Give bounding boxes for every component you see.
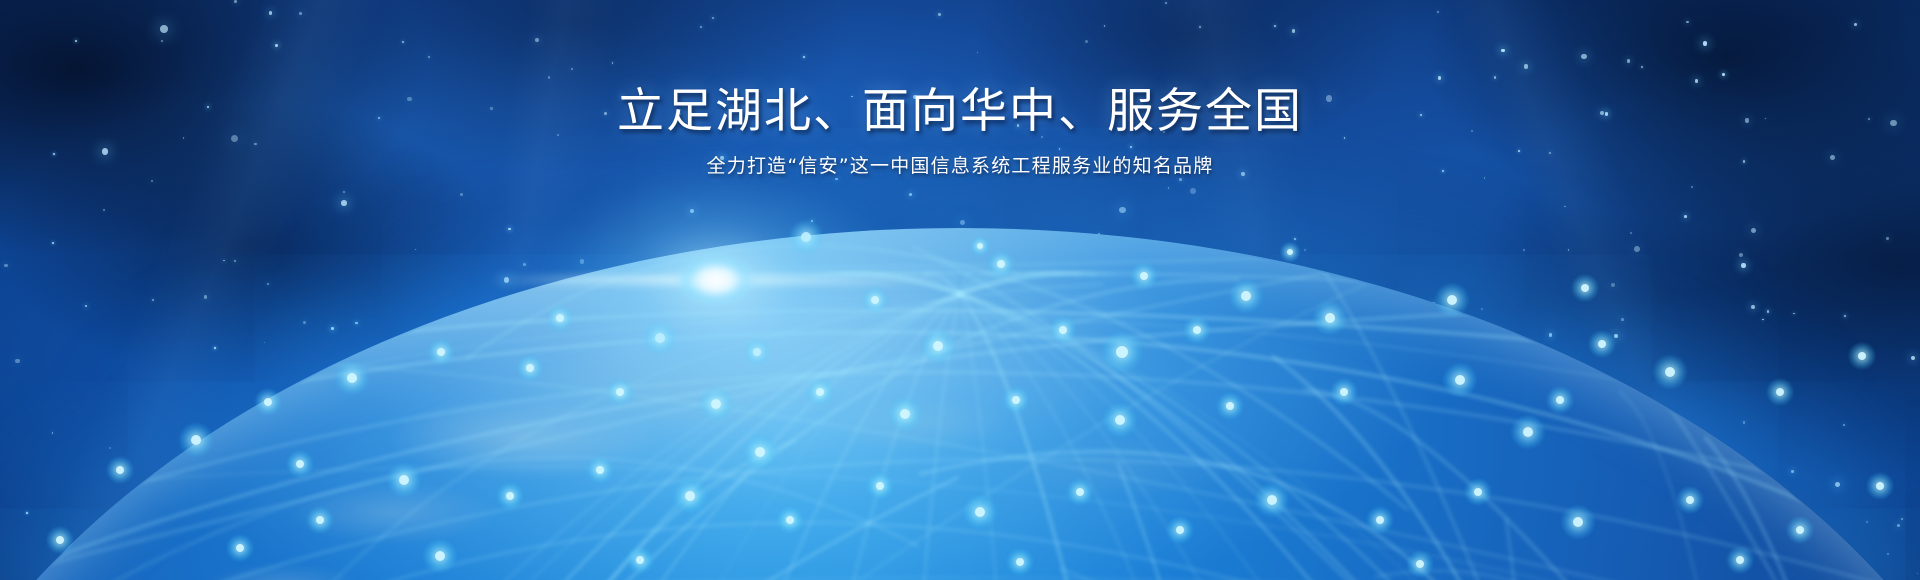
banner-text-block: 立足湖北、面向华中、服务全国 全力打造“信安”这一中国信息系统工程服务业的知名品… <box>0 84 1920 180</box>
network-node <box>1598 340 1606 348</box>
network-node <box>1115 415 1125 425</box>
network-node <box>1076 488 1084 496</box>
network-node <box>1325 313 1335 323</box>
network-node <box>1447 295 1457 305</box>
network-node <box>711 399 721 409</box>
hero-banner: 立足湖北、面向华中、服务全国 全力打造“信安”这一中国信息系统工程服务业的知名品… <box>0 0 1920 580</box>
flare-core <box>676 254 756 306</box>
network-node <box>1226 402 1234 410</box>
network-node <box>116 466 124 474</box>
network-node <box>1665 367 1675 377</box>
network-node <box>816 388 824 396</box>
network-node <box>1776 388 1784 396</box>
network-node <box>1416 560 1424 568</box>
network-node <box>900 409 910 419</box>
network-node <box>399 475 409 485</box>
network-node <box>264 398 272 406</box>
network-node <box>1858 352 1866 360</box>
network-node <box>1193 326 1201 334</box>
network-node <box>977 243 983 249</box>
network-node <box>1376 516 1384 524</box>
network-node <box>1059 326 1067 334</box>
network-node <box>1556 396 1564 404</box>
network-node <box>1581 284 1589 292</box>
network-node <box>1116 346 1128 358</box>
network-node <box>1340 388 1348 396</box>
network-node <box>616 388 624 396</box>
network-node <box>526 364 534 372</box>
network-node <box>876 482 884 490</box>
network-node <box>1876 482 1884 490</box>
network-node <box>1796 526 1804 534</box>
network-node <box>1523 427 1533 437</box>
network-node <box>975 507 985 517</box>
network-node <box>1686 496 1694 504</box>
banner-subheadline: 全力打造“信安”这一中国信息系统工程服务业的知名品牌 <box>0 153 1920 180</box>
network-node <box>786 516 794 524</box>
network-node <box>636 556 644 564</box>
network-node <box>1287 249 1293 255</box>
network-node <box>437 348 445 356</box>
network-node <box>191 435 201 445</box>
network-node <box>1455 375 1465 385</box>
network-node <box>1241 291 1251 301</box>
network-node <box>506 492 514 500</box>
network-node <box>296 460 304 468</box>
network-node <box>56 536 64 544</box>
network-node <box>755 447 765 457</box>
network-node <box>1267 495 1277 505</box>
network-node <box>596 466 604 474</box>
banner-headline: 立足湖北、面向华中、服务全国 <box>0 84 1920 139</box>
network-node <box>1140 272 1148 280</box>
network-node <box>236 544 244 552</box>
network-node <box>435 551 445 561</box>
network-node <box>1016 558 1024 566</box>
network-node <box>997 260 1005 268</box>
network-node <box>1736 556 1744 564</box>
network-node <box>1573 517 1583 527</box>
network-node <box>933 341 943 351</box>
network-node <box>347 373 357 383</box>
network-node <box>685 491 695 501</box>
network-node <box>1474 488 1482 496</box>
network-node <box>1012 396 1020 404</box>
network-node <box>316 516 324 524</box>
network-node <box>1176 526 1184 534</box>
